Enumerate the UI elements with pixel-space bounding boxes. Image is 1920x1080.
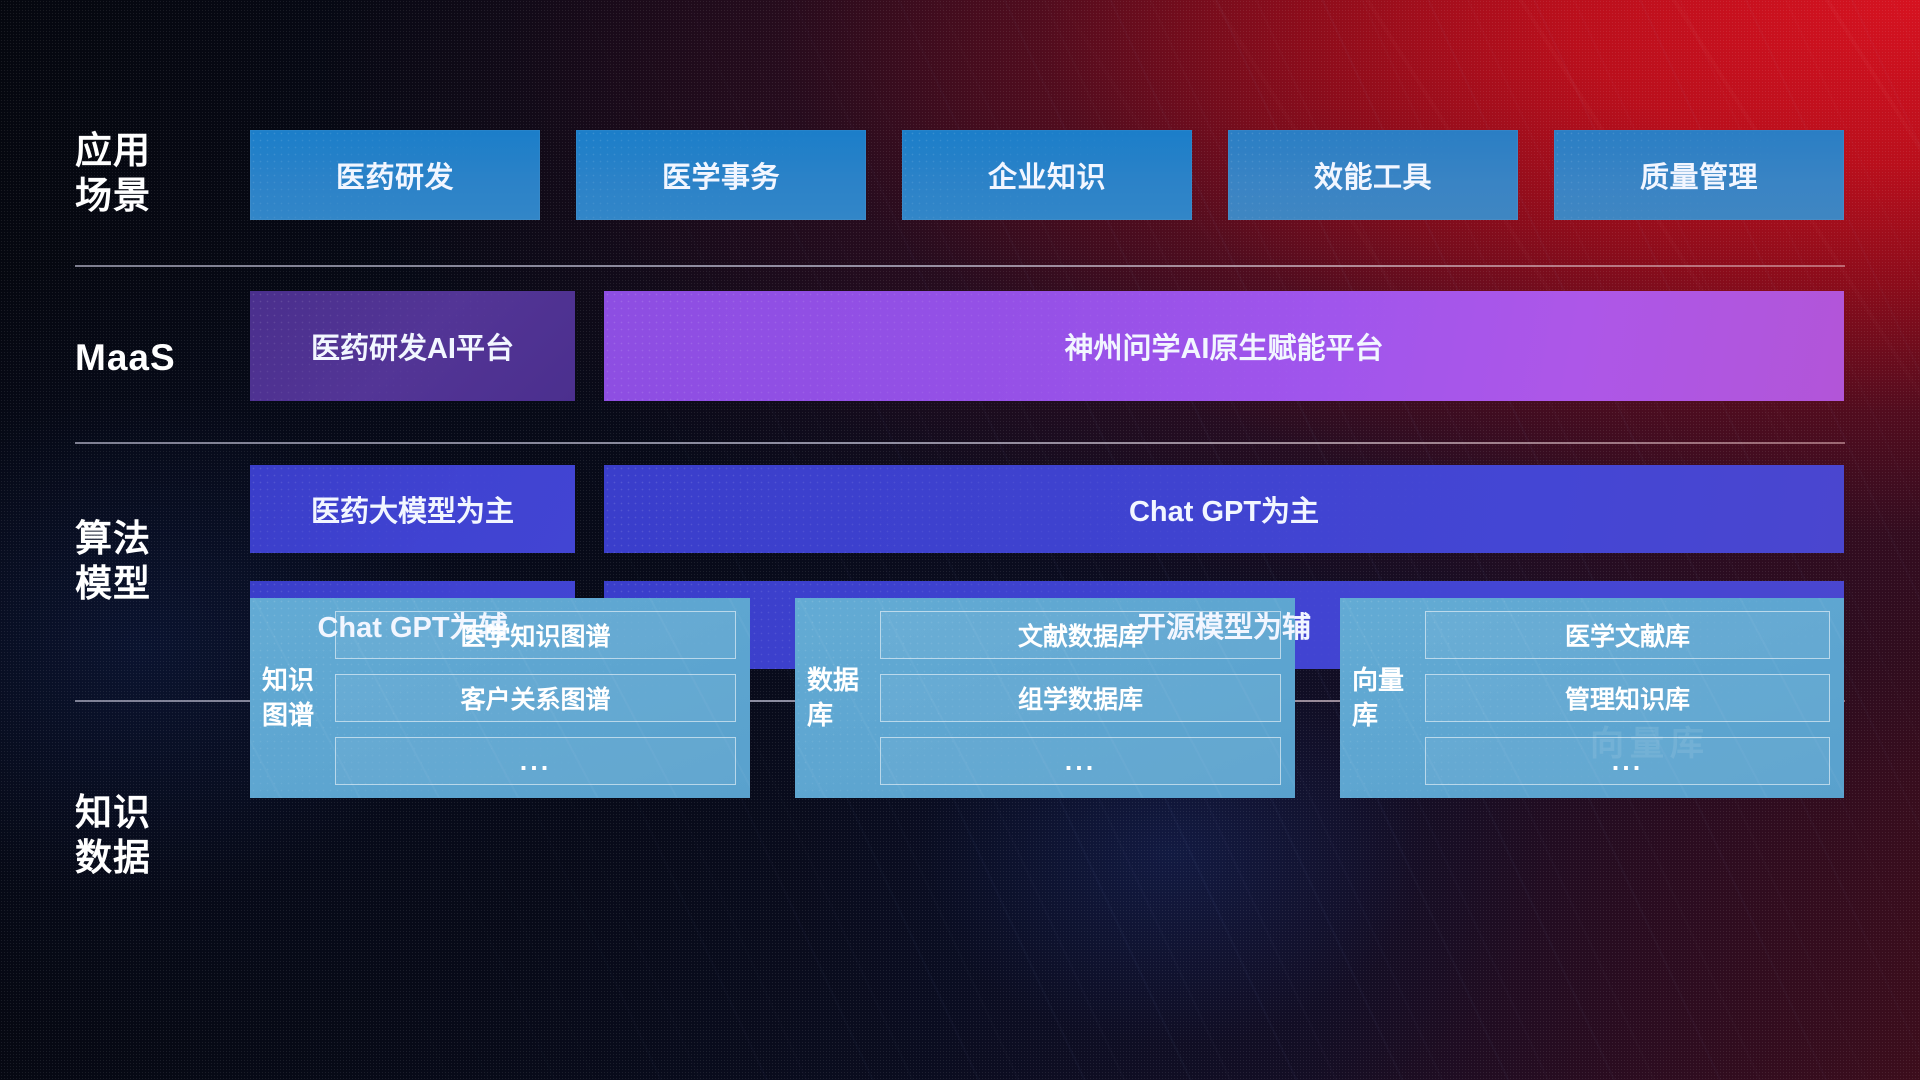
knowledge-panel-vector-db[interactable]: 向量库 向量库 医学文献库 管理知识库 ... xyxy=(1340,598,1844,798)
knowledge-panel-knowledge-graph[interactable]: 知识图谱 医学知识图谱 客户关系图谱 ... xyxy=(250,598,750,798)
knowledge-item-list: 文献数据库 组学数据库 ... xyxy=(869,611,1281,785)
knowledge-item-more[interactable]: ... xyxy=(1425,737,1830,785)
knowledge-panel-title-knowledge-graph: 知识图谱 xyxy=(262,611,324,785)
app-scenario-card-efficiency-tools[interactable]: 效能工具 xyxy=(1228,130,1518,220)
knowledge-item-customer-relation-kg[interactable]: 客户关系图谱 xyxy=(335,674,736,722)
app-scenario-card-medical-affairs[interactable]: 医学事务 xyxy=(576,130,866,220)
knowledge-item-more[interactable]: ... xyxy=(335,737,736,785)
architecture-diagram: 应用 场景 医药研发 医学事务 企业知识 效能工具 质量管理 MaaS 医药研发… xyxy=(0,0,1920,1080)
app-scenario-card-enterprise-knowledge[interactable]: 企业知识 xyxy=(902,130,1192,220)
knowledge-item-list: 医学知识图谱 客户关系图谱 ... xyxy=(324,611,736,785)
knowledge-item-more[interactable]: ... xyxy=(880,737,1281,785)
knowledge-panel-title-database: 数据库 xyxy=(807,611,869,785)
maas-card-shenzhou-wenxue-platform[interactable]: 神州问学AI原生赋能平台 xyxy=(604,291,1844,401)
divider-maas-algorithm xyxy=(75,442,1845,444)
knowledge-panel-database[interactable]: 数据库 文献数据库 组学数据库 ... xyxy=(795,598,1295,798)
row-label-application-scenarios: 应用 场景 xyxy=(75,128,250,218)
knowledge-item-medical-literature-lib[interactable]: 医学文献库 xyxy=(1425,611,1830,659)
maas-card-pharma-ai-platform[interactable]: 医药研发AI平台 xyxy=(250,291,575,401)
divider-application-maas xyxy=(75,265,1845,267)
row-label-maas: MaaS xyxy=(75,335,250,380)
knowledge-item-medical-kg[interactable]: 医学知识图谱 xyxy=(335,611,736,659)
knowledge-item-list: 医学文献库 管理知识库 ... xyxy=(1414,611,1830,785)
knowledge-item-omics-db[interactable]: 组学数据库 xyxy=(880,674,1281,722)
knowledge-item-literature-db[interactable]: 文献数据库 xyxy=(880,611,1281,659)
algorithm-card-pharma-llm-primary[interactable]: 医药大模型为主 xyxy=(250,465,575,553)
algorithm-card-chatgpt-primary[interactable]: Chat GPT为主 xyxy=(604,465,1844,553)
knowledge-item-management-knowledge-lib[interactable]: 管理知识库 xyxy=(1425,674,1830,722)
app-scenario-card-medicine-rd[interactable]: 医药研发 xyxy=(250,130,540,220)
app-scenario-card-quality-management[interactable]: 质量管理 xyxy=(1554,130,1844,220)
row-label-algorithm-model: 算法 模型 xyxy=(75,516,250,606)
row-label-knowledge-data: 知识 数据 xyxy=(75,790,250,880)
knowledge-panel-title-vector-db: 向量库 xyxy=(1352,611,1414,785)
